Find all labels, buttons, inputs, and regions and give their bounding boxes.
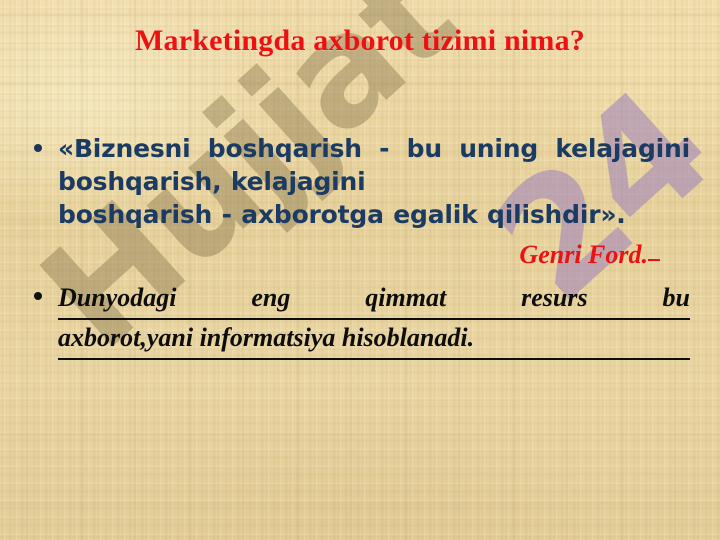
statement-line-2: axborot,yani informatsiya hisoblanadi. xyxy=(58,320,690,360)
attribution-underline xyxy=(648,259,660,261)
quote-paragraph: «Biznesni boshqarish - bu uning kelajagi… xyxy=(58,132,690,231)
bullet-marker-icon xyxy=(34,132,58,152)
presentation-slide: Hujjat 24 Marketingda axborot tizimi nim… xyxy=(0,0,720,540)
bullet-item-quote: «Biznesni boshqarish - bu uning kelajagi… xyxy=(34,132,690,231)
quote-line-3: boshqarish - axborotga egalik qilishdir»… xyxy=(58,198,690,231)
statement-line-1: Dunyodagi eng qimmat resurs bu xyxy=(58,280,690,320)
slide-body: «Biznesni boshqarish - bu uning kelajagi… xyxy=(34,132,690,360)
slide-title: Marketingda axborot tizimi nima? xyxy=(0,24,720,57)
slide-content: Marketingda axborot tizimi nima? «Biznes… xyxy=(0,0,720,540)
bullet-marker-icon xyxy=(34,280,58,300)
statement-paragraph: Dunyodagi eng qimmat resurs bu axborot,y… xyxy=(58,280,690,360)
quote-attribution: Genri Ford. xyxy=(34,239,690,270)
bullet-item-statement: Dunyodagi eng qimmat resurs bu axborot,y… xyxy=(34,280,690,360)
quote-line-1: «Biznesni boshqarish - bu uning xyxy=(58,134,538,163)
attribution-name: Genri Ford. xyxy=(519,240,648,269)
